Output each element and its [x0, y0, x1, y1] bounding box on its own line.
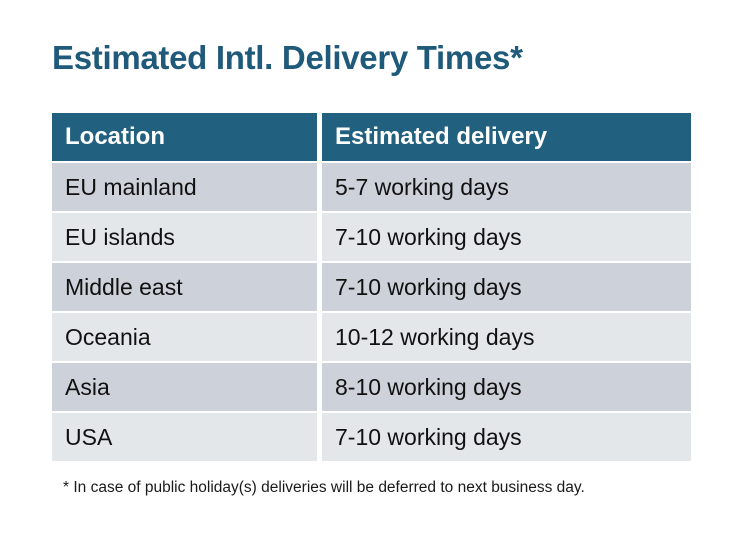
table-row: USA 7-10 working days	[52, 413, 691, 461]
column-header-estimated-delivery: Estimated delivery	[322, 113, 691, 161]
cell-estimated-delivery: 8-10 working days	[322, 363, 691, 411]
cell-location: Middle east	[52, 263, 317, 311]
table-row: EU islands 7-10 working days	[52, 213, 691, 261]
table-row: Oceania 10-12 working days	[52, 313, 691, 361]
table-header-row: Location Estimated delivery	[52, 113, 691, 161]
table-row: EU mainland 5-7 working days	[52, 163, 691, 211]
cell-location: EU mainland	[52, 163, 317, 211]
page-title: Estimated Intl. Delivery Times*	[52, 38, 523, 78]
cell-location: USA	[52, 413, 317, 461]
table-row: Asia 8-10 working days	[52, 363, 691, 411]
cell-estimated-delivery: 7-10 working days	[322, 413, 691, 461]
table-row: Middle east 7-10 working days	[52, 263, 691, 311]
cell-location: Oceania	[52, 313, 317, 361]
estimated-delivery-table: Location Estimated delivery EU mainland …	[52, 113, 691, 463]
cell-estimated-delivery: 10-12 working days	[322, 313, 691, 361]
cell-estimated-delivery: 5-7 working days	[322, 163, 691, 211]
cell-estimated-delivery: 7-10 working days	[322, 263, 691, 311]
footnote-public-holiday: * In case of public holiday(s) deliverie…	[63, 478, 585, 498]
column-header-location: Location	[52, 113, 317, 161]
delivery-times-card: Estimated Intl. Delivery Times* Location…	[0, 0, 745, 536]
cell-location: Asia	[52, 363, 317, 411]
cell-location: EU islands	[52, 213, 317, 261]
cell-estimated-delivery: 7-10 working days	[322, 213, 691, 261]
